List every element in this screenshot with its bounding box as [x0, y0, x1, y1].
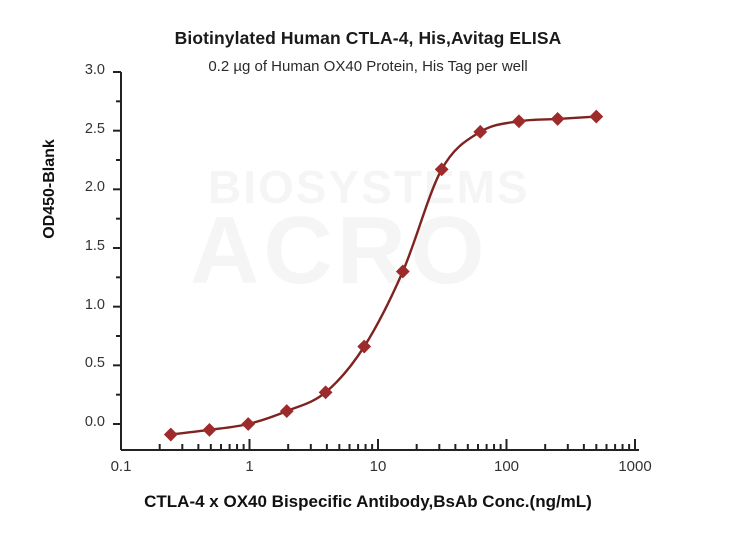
- x-tick-label: 100: [472, 458, 542, 475]
- y-tick-label: 2.0: [61, 179, 105, 195]
- data-point-marker: [203, 424, 215, 436]
- data-point-marker: [165, 428, 177, 440]
- data-point-marker: [281, 405, 293, 417]
- y-tick-label: 2.5: [61, 121, 105, 137]
- chart-figure: Biotinylated Human CTLA-4, His,Avitag EL…: [0, 0, 736, 533]
- data-point-marker: [397, 265, 409, 277]
- y-tick-label: 0.5: [61, 355, 105, 371]
- x-tick-label: 1000: [600, 458, 670, 475]
- plot-area: [0, 0, 736, 533]
- x-tick-label: 10: [343, 458, 413, 475]
- y-tick-label: 0.0: [61, 414, 105, 430]
- y-tick-label: 1.5: [61, 238, 105, 254]
- y-tick-label: 1.0: [61, 297, 105, 313]
- y-tick-label: 3.0: [61, 62, 105, 78]
- data-point-marker: [242, 418, 254, 430]
- data-point-marker: [474, 126, 486, 138]
- data-point-marker: [513, 115, 525, 127]
- series-line: [171, 117, 597, 435]
- x-tick-label: 1: [215, 458, 285, 475]
- data-point-marker: [435, 163, 447, 175]
- data-point-marker: [358, 340, 370, 352]
- data-point-marker: [590, 110, 602, 122]
- data-point-marker: [551, 113, 563, 125]
- x-tick-label: 0.1: [86, 458, 156, 475]
